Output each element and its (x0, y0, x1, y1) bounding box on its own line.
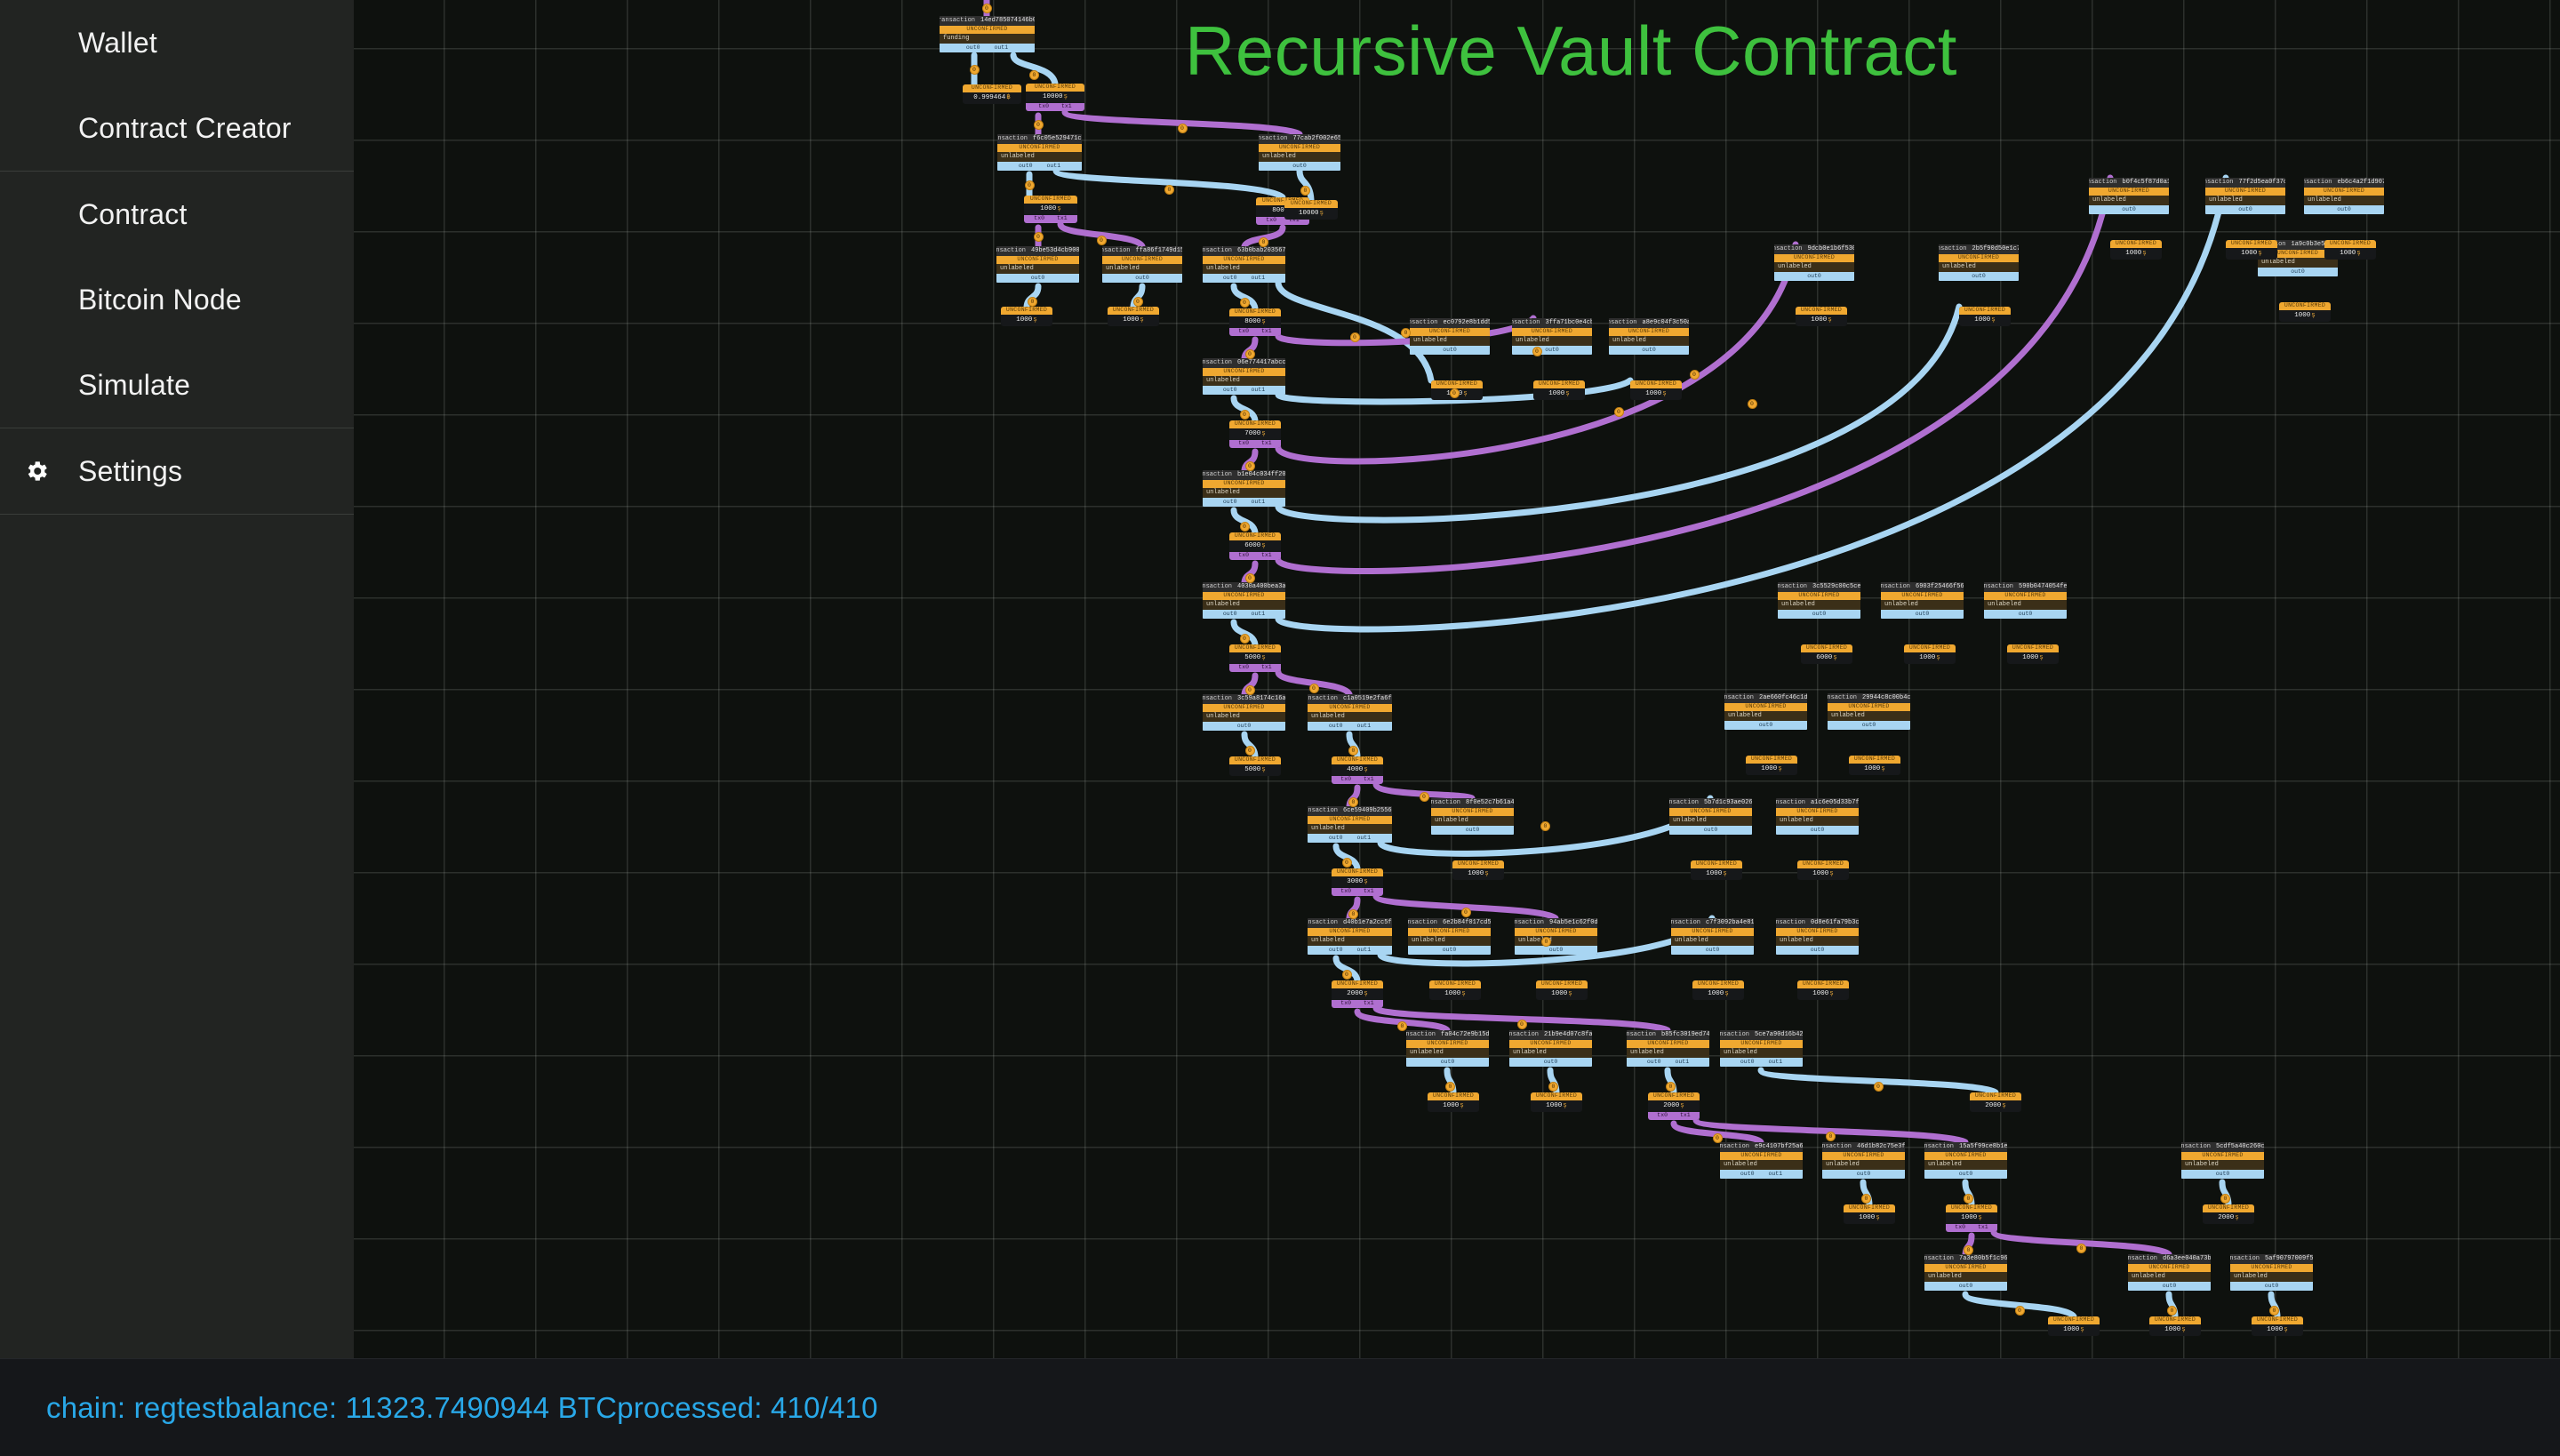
app-body: WalletContract CreatorContractBitcoin No… (0, 0, 2560, 1358)
transaction-label: unlabeled (1881, 600, 1964, 610)
output-port[interactable]: out1 (1357, 836, 1372, 842)
transaction-id: 5af90797009f51b4 (2265, 1256, 2313, 1262)
sidebar: WalletContract CreatorContractBitcoin No… (0, 0, 354, 1358)
currency-symbol: ş (1261, 431, 1266, 438)
spend-port[interactable]: tx0 (1340, 1001, 1351, 1007)
utxo-node[interactable]: UNCONFIRMED1000ş (1001, 307, 1052, 326)
output-port[interactable]: out1 (1252, 612, 1266, 618)
edge-index-badge: 0 (1245, 685, 1255, 695)
transaction-header: Transaction14ed785074146b04 (940, 16, 1035, 26)
transaction-node[interactable]: Transaction3c5529c00c5ce1d0UNCONFIRMEDun… (1778, 582, 1860, 619)
transaction-node[interactable]: Transactione9c4107bf25a6033UNCONFIRMEDun… (1720, 1142, 1803, 1179)
transaction-id: 77f2d5ea0f37c9bb (2239, 180, 2286, 186)
transaction-outputs[interactable]: out0out1 (1203, 498, 1285, 507)
utxo-node[interactable]: UNCONFIRMED1000ş (1429, 980, 1481, 1000)
transaction-outputs[interactable]: out0out1 (1627, 1058, 1709, 1067)
spend-port[interactable]: tx1 (1364, 777, 1374, 783)
status-badge: UNCONFIRMED (1431, 380, 1483, 388)
output-port[interactable]: out0 (1740, 1060, 1755, 1066)
utxo-node[interactable]: UNCONFIRMED1000ş (1533, 380, 1585, 400)
output-port[interactable]: out0 (966, 45, 980, 52)
status-bar: chain: regtestbalance: 11323.7490944 BTC… (0, 1358, 2560, 1456)
transaction-header: Transaction8f0e52c7b61a4d27 (1431, 798, 1514, 808)
spend-port[interactable]: tx0 (1266, 218, 1276, 224)
currency-symbol: ş (1881, 766, 1885, 773)
transaction-node[interactable]: Transaction21b9e4d07c8fa651UNCONFIRMEDun… (1509, 1030, 1592, 1067)
transaction-node[interactable]: Transactionb85fc3019ed742aaUNCONFIRMEDun… (1627, 1030, 1709, 1067)
currency-symbol: ş (1261, 543, 1266, 550)
transaction-header: Transactionb85fc3019ed742aa (1627, 1030, 1709, 1040)
sidebar-item-settings[interactable]: Settings (0, 428, 354, 514)
spend-port[interactable]: tx1 (1061, 104, 1072, 110)
transaction-node[interactable]: Transaction46d1b82c75e3f090UNCONFIRMEDun… (1822, 1142, 1905, 1179)
output-port[interactable]: out0 (1549, 948, 1564, 954)
transaction-node[interactable]: Transaction9dcb0e1b6f5307f2UNCONFIRMEDun… (1774, 244, 1854, 281)
transaction-outputs[interactable]: out0 (2258, 268, 2338, 276)
output-port[interactable]: out0 (1329, 948, 1343, 954)
transaction-label: unlabeled (1308, 712, 1392, 722)
spend-port[interactable]: tx1 (1261, 441, 1272, 447)
utxo-spend-ports[interactable]: tx0tx1 (1332, 1000, 1383, 1008)
transaction-outputs[interactable]: out0 (1776, 826, 1859, 835)
transaction-label: unlabeled (1203, 488, 1285, 498)
transaction-node[interactable]: Transactiond40b1e7a2cc5f309UNCONFIRMEDun… (1308, 918, 1392, 955)
output-port[interactable]: out0 (1223, 388, 1237, 394)
output-port[interactable]: out0 (2019, 612, 2033, 618)
transaction-outputs[interactable]: out0 (2205, 205, 2285, 214)
transaction-outputs[interactable]: out0out1 (1203, 386, 1285, 395)
transaction-word: Transaction (1822, 1144, 1852, 1150)
utxo-node[interactable]: UNCONFIRMED1000ş (1691, 860, 1742, 880)
output-port[interactable]: out0 (1647, 1060, 1661, 1066)
transaction-id: c7f3092ba4e815d6 (1706, 920, 1754, 926)
transaction-node[interactable]: Transactionb0f4c5f87d0a1e33UNCONFIRMEDun… (2089, 178, 2169, 214)
transaction-outputs[interactable]: out0 (996, 274, 1079, 283)
edge-index-badge: 0 (2076, 1244, 2086, 1253)
utxo-node[interactable]: UNCONFIRMED4000ştx0tx1 (1332, 756, 1383, 784)
transaction-outputs[interactable]: out0 (1671, 946, 1754, 955)
transaction-outputs[interactable]: out0 (1724, 721, 1807, 730)
transaction-node[interactable]: Transaction2ae660fc46c1da10UNCONFIRMEDun… (1724, 693, 1807, 730)
utxo-node[interactable]: UNCONFIRMED10000ş (1284, 200, 1338, 220)
transaction-outputs[interactable]: out0out1 (1308, 722, 1392, 731)
status-badge: UNCONFIRMED (1431, 808, 1514, 816)
transaction-node[interactable]: Transaction5ce7a90d16b428fcUNCONFIRMEDun… (1720, 1030, 1803, 1067)
transaction-outputs[interactable]: out0 (1259, 162, 1340, 171)
output-port[interactable]: out0 (1704, 828, 1718, 834)
utxo-node[interactable]: UNCONFIRMED5000ştx0tx1 (1229, 644, 1281, 672)
utxo-node[interactable]: UNCONFIRMED1000ş (1428, 1092, 1479, 1112)
transaction-outputs[interactable]: out0 (1774, 272, 1854, 281)
transaction-outputs[interactable]: out0 (2128, 1282, 2211, 1291)
utxo-node[interactable]: UNCONFIRMED1000ş (1849, 756, 1900, 775)
transaction-outputs[interactable]: out0 (1509, 1058, 1592, 1067)
transaction-node[interactable]: Transactionb1e04c034ff20207UNCONFIRMEDun… (1203, 470, 1285, 507)
transaction-outputs[interactable]: out0out1 (1203, 610, 1285, 619)
output-port[interactable]: out0 (1759, 723, 1773, 729)
utxo-node[interactable]: UNCONFIRMED1000ş (2110, 240, 2162, 260)
utxo-node[interactable]: UNCONFIRMED6000ş (1801, 644, 1852, 664)
edge-index-badge: 0 (1025, 180, 1035, 190)
transaction-node[interactable]: Transactiond6a3ee040a73b50dUNCONFIRMEDun… (2128, 1254, 2211, 1291)
transaction-label: unlabeled (1512, 336, 1592, 346)
transaction-node[interactable]: Transactionf6c05e529471c029UNCONFIRMEDun… (997, 134, 1082, 171)
utxo-node[interactable]: UNCONFIRMED1000ş (2252, 1316, 2303, 1336)
transaction-outputs[interactable]: out0 (1778, 610, 1860, 619)
transaction-node[interactable]: Transaction4030a400bea3a0eaUNCONFIRMEDun… (1203, 582, 1285, 619)
utxo-spend-ports[interactable]: tx0tx1 (1332, 776, 1383, 784)
output-port[interactable]: out0 (2163, 1284, 2177, 1290)
transaction-node[interactable]: Transactionc1a0519e2fa6f66cUNCONFIRMEDun… (1308, 694, 1392, 731)
utxo-node[interactable]: UNCONFIRMED1000ş (1692, 980, 1744, 1000)
output-port[interactable]: out0 (1807, 274, 1821, 280)
spend-port[interactable]: tx1 (1680, 1113, 1691, 1119)
transaction-node[interactable]: Transaction0d8e61fa79b3c204UNCONFIRMEDun… (1776, 918, 1859, 955)
status-badge: UNCONFIRMED (2252, 1316, 2303, 1324)
output-port[interactable]: out1 (1047, 164, 1061, 170)
utxo-spend-ports[interactable]: tx0tx1 (1026, 103, 1084, 111)
spend-port[interactable]: tx1 (1261, 665, 1272, 671)
transaction-id: 6e2b84f017cd5390 (1443, 920, 1491, 926)
transaction-outputs[interactable]: out0out1 (1720, 1058, 1803, 1067)
output-port[interactable]: out0 (1706, 948, 1720, 954)
transaction-outputs[interactable]: out0out1 (1308, 834, 1392, 843)
utxo-spend-ports[interactable]: tx0tx1 (1332, 888, 1383, 896)
output-port[interactable]: out0 (2337, 207, 2351, 213)
transaction-outputs[interactable]: out0 (1669, 826, 1752, 835)
transaction-outputs[interactable]: out0 (1406, 1058, 1489, 1067)
utxo-amount-value: 2000 (1663, 1103, 1679, 1110)
output-port[interactable]: out0 (1642, 348, 1656, 354)
transaction-node[interactable]: Transactionffa86f1749d159aaUNCONFIRMEDun… (1102, 246, 1182, 283)
transaction-node[interactable]: Transactiona1c6e05d33b7f812UNCONFIRMEDun… (1776, 798, 1859, 835)
spend-port[interactable]: tx0 (1238, 553, 1249, 559)
utxo-node[interactable]: UNCONFIRMED5000ş (1229, 756, 1281, 776)
transaction-node[interactable]: Transaction7a3e80b5f1c96d24UNCONFIRMEDun… (1924, 1254, 2007, 1291)
utxo-amount-value: 1000 (2294, 313, 2310, 320)
transaction-outputs[interactable]: out0 (1203, 722, 1285, 731)
output-port[interactable]: out0 (1329, 836, 1343, 842)
transaction-label: unlabeled (1509, 1048, 1592, 1058)
output-port[interactable]: out0 (2216, 1172, 2230, 1178)
transaction-word: Transaction (2128, 1256, 2157, 1262)
transaction-outputs[interactable]: out0 (1984, 610, 2067, 619)
transaction-word: Transaction (1776, 800, 1805, 806)
utxo-amount-value: 1000 (1974, 317, 1990, 324)
edge-index-badge: 0 (1420, 792, 1429, 802)
output-port[interactable]: out1 (1357, 724, 1372, 730)
transaction-outputs[interactable]: out0 (1828, 721, 1910, 730)
transaction-node[interactable]: Transaction5cdf5a40c260c423UNCONFIRMEDun… (2181, 1142, 2264, 1179)
status-badge: UNCONFIRMED (1881, 592, 1964, 600)
transaction-header: Transaction0d8e61fa79b3c204 (1776, 918, 1859, 928)
utxo-node[interactable]: UNCONFIRMED1000ş (1959, 307, 2011, 326)
utxo-amount-value: 1000 (1645, 391, 1661, 398)
currency-symbol: ş (1261, 767, 1266, 774)
output-port[interactable]: out0 (1857, 1172, 1871, 1178)
transaction-header: Transactionc7f3092ba4e815d6 (1671, 918, 1754, 928)
utxo-node[interactable]: UNCONFIRMED1000ştx0tx1 (1946, 1204, 1997, 1232)
spend-port[interactable]: tx0 (1340, 889, 1351, 895)
utxo-node[interactable]: UNCONFIRMED1000ş (1797, 860, 1849, 880)
sidebar-item-wallet[interactable]: Wallet (0, 0, 354, 85)
currency-symbol: ş (2039, 655, 2044, 662)
transaction-label: unlabeled (2089, 196, 2169, 205)
spend-port[interactable]: tx0 (1238, 441, 1249, 447)
transaction-outputs[interactable]: out0out1 (1720, 1170, 1803, 1179)
utxo-amount: 1000ş (2007, 652, 2059, 664)
transaction-outputs[interactable]: out0 (1776, 946, 1859, 955)
utxo-node[interactable]: UNCONFIRMED2000ş (2203, 1204, 2254, 1224)
output-port[interactable]: out0 (1862, 723, 1876, 729)
transaction-outputs[interactable]: out0out1 (940, 44, 1035, 52)
spend-port[interactable]: tx0 (1238, 665, 1249, 671)
spend-port[interactable]: tx1 (1057, 216, 1068, 222)
utxo-node[interactable]: UNCONFIRMED7000ştx0tx1 (1229, 420, 1281, 448)
sidebar-item-label: Simulate (78, 369, 190, 402)
transaction-node[interactable]: Transaction5af90797009f51b4UNCONFIRMEDun… (2230, 1254, 2313, 1291)
utxo-node[interactable]: UNCONFIRMED2000ştx0tx1 (1332, 980, 1383, 1008)
transaction-node[interactable]: Transaction29944c8c00b4c0b7UNCONFIRMEDun… (1828, 693, 1910, 730)
output-port[interactable]: out1 (1252, 276, 1266, 282)
transaction-node[interactable]: Transaction8f0e52c7b61a4d27UNCONFIRMEDun… (1431, 798, 1514, 835)
utxo-node[interactable]: UNCONFIRMED2000ş (1970, 1092, 2021, 1112)
transaction-outputs[interactable]: out0 (1924, 1282, 2007, 1291)
transaction-id: 77cab2f002e651cc (1293, 136, 1341, 142)
transaction-node[interactable]: Transaction5b7d1c93ae0268f4UNCONFIRMEDun… (1669, 798, 1752, 835)
transaction-header: Transactione9c4107bf25a6033 (1720, 1142, 1803, 1152)
transaction-word: Transaction (1406, 1032, 1436, 1038)
output-port[interactable]: out1 (1769, 1060, 1783, 1066)
utxo-node[interactable]: UNCONFIRMED10000ştx0tx1 (1026, 84, 1084, 111)
utxo-node[interactable]: UNCONFIRMED1000ş (2149, 1316, 2201, 1336)
transaction-node[interactable]: Transactionfa04c72e9b15d338UNCONFIRMEDun… (1406, 1030, 1489, 1067)
transaction-outputs[interactable]: out0 (1822, 1170, 1905, 1179)
edge-index-badge: 0 (1461, 908, 1471, 917)
output-port[interactable]: out0 (1811, 948, 1825, 954)
graph-canvas[interactable]: Recursive Vault Contract Transaction14ed… (354, 0, 2560, 1358)
status-badge: UNCONFIRMED (2226, 240, 2277, 248)
transaction-node[interactable]: Transactionc7f3092ba4e815d6UNCONFIRMEDun… (1671, 918, 1754, 955)
output-port[interactable]: out0 (1019, 164, 1033, 170)
utxo-node[interactable]: UNCONFIRMED0.999464฿ (963, 84, 1021, 104)
transaction-outputs[interactable]: out0 (1515, 946, 1597, 955)
output-port[interactable]: out0 (1223, 500, 1237, 506)
transaction-outputs[interactable]: out0 (2181, 1170, 2264, 1179)
output-port[interactable]: out0 (2291, 269, 2305, 276)
transaction-node[interactable]: Transaction49be53d4cb90066fUNCONFIRMEDun… (996, 246, 1079, 283)
utxo-node[interactable]: UNCONFIRMED1000ş (1531, 1092, 1582, 1112)
output-port[interactable]: out0 (1811, 828, 1825, 834)
transaction-node[interactable]: Transaction6903f25466f56e1cUNCONFIRMEDun… (1881, 582, 1964, 619)
output-port[interactable]: out1 (1769, 1172, 1783, 1178)
spend-port[interactable]: tx1 (1364, 889, 1374, 895)
utxo-node[interactable]: UNCONFIRMED1000ştx0tx1 (1024, 196, 1077, 223)
transaction-outputs[interactable]: out0 (1512, 346, 1592, 355)
utxo-node[interactable]: UNCONFIRMED1000ş (1452, 860, 1504, 880)
utxo-node[interactable]: UNCONFIRMED1000ş (1108, 307, 1159, 326)
utxo-node[interactable]: UNCONFIRMED8000ştx0tx1 (1229, 308, 1281, 336)
utxo-node[interactable]: UNCONFIRMED1000ş (1536, 980, 1588, 1000)
output-port[interactable]: out0 (1959, 1284, 1973, 1290)
sidebar-item-contract-creator[interactable]: Contract Creator (0, 85, 354, 171)
utxo-node[interactable]: UNCONFIRMED1000ş (1746, 756, 1797, 775)
transaction-label: unlabeled (1408, 936, 1491, 946)
transaction-node[interactable]: Transaction3ffa71bc0e4cb2a9UNCONFIRMEDun… (1512, 318, 1592, 355)
spend-port[interactable]: tx0 (1238, 329, 1249, 335)
utxo-node[interactable]: UNCONFIRMED1000ş (1630, 380, 1682, 400)
output-port[interactable]: out0 (1329, 724, 1343, 730)
transaction-node[interactable]: Transaction14ed785074146b04UNCONFIRMEDfu… (940, 16, 1035, 52)
output-port[interactable]: out0 (1916, 612, 1930, 618)
transaction-node[interactable]: Transaction590b0474054fe22bUNCONFIRMEDun… (1984, 582, 2067, 619)
transaction-outputs[interactable]: out0 (1102, 274, 1182, 283)
edge-index-badge: 0 (1666, 1082, 1676, 1092)
output-port[interactable]: out0 (1441, 1060, 1455, 1066)
output-port[interactable]: out1 (1252, 500, 1266, 506)
utxo-node[interactable]: UNCONFIRMED1000ş (2324, 240, 2376, 260)
transaction-word: Transaction (997, 136, 1028, 142)
transaction-outputs[interactable]: out0out1 (997, 162, 1082, 171)
transaction-word: Transaction (1308, 696, 1338, 702)
transaction-outputs[interactable]: out0 (2089, 205, 2169, 214)
output-port[interactable]: out1 (1252, 388, 1266, 394)
utxo-spend-ports[interactable]: tx0tx1 (1229, 664, 1281, 672)
spend-port[interactable]: tx1 (1261, 553, 1272, 559)
transaction-node[interactable]: Transaction06e774417abcc75bUNCONFIRMEDun… (1203, 358, 1285, 395)
currency-symbol: ş (1829, 871, 1834, 878)
output-port[interactable]: out0 (1959, 1172, 1973, 1178)
transaction-node[interactable]: Transactiona8e9c04f3c50a11dUNCONFIRMEDun… (1609, 318, 1689, 355)
transaction-node[interactable]: Transaction3c59a8174c16ad71UNCONFIRMEDun… (1203, 694, 1285, 731)
transaction-node[interactable]: Transactionec0792e8b1dd5a02UNCONFIRMEDun… (1410, 318, 1490, 355)
status-badge: UNCONFIRMED (940, 26, 1035, 34)
status-badge: UNCONFIRMED (2203, 1204, 2254, 1212)
transaction-node[interactable]: Transaction94ab5e1c62f0d7a8UNCONFIRMEDun… (1515, 918, 1597, 955)
utxo-node[interactable]: UNCONFIRMED1000ş (1796, 307, 1847, 326)
transaction-outputs[interactable]: out0 (1408, 946, 1491, 955)
sidebar-item-simulate[interactable]: Simulate (0, 342, 354, 428)
output-port[interactable]: out0 (1812, 612, 1827, 618)
transaction-outputs[interactable]: out0 (1609, 346, 1689, 355)
spend-port[interactable]: tx0 (1657, 1113, 1668, 1119)
utxo-spend-ports[interactable]: tx0tx1 (1229, 440, 1281, 448)
edge-index-badge: 0 (2269, 1306, 2279, 1316)
sidebar-item-contract[interactable]: Contract (0, 172, 354, 257)
status-badge: UNCONFIRMED (1332, 980, 1383, 988)
transaction-outputs[interactable]: out0out1 (1308, 946, 1392, 955)
transaction-node[interactable]: Transaction63b0bab2035670d7UNCONFIRMEDun… (1203, 246, 1285, 283)
status-badge: UNCONFIRMED (1308, 816, 1392, 824)
transaction-node[interactable]: Transaction15a5f99ce8b1ef12UNCONFIRMEDun… (1924, 1142, 2007, 1179)
transaction-outputs[interactable]: out0 (2304, 205, 2384, 214)
output-port[interactable]: out0 (1740, 1172, 1755, 1178)
spend-port[interactable]: tx0 (1340, 777, 1351, 783)
utxo-amount: 1000ş (1429, 988, 1481, 1000)
transaction-outputs[interactable]: out0 (2230, 1282, 2313, 1291)
spend-port[interactable]: tx1 (1261, 329, 1272, 335)
utxo-spend-ports[interactable]: tx0tx1 (1648, 1112, 1700, 1120)
transaction-outputs[interactable]: out0 (1431, 826, 1514, 835)
output-port[interactable]: out0 (1972, 274, 1986, 280)
output-port[interactable]: out0 (1223, 612, 1237, 618)
utxo-node[interactable]: UNCONFIRMED3000ştx0tx1 (1332, 868, 1383, 896)
spend-port[interactable]: tx0 (1038, 104, 1049, 110)
edge-index-badge: 0 (1540, 821, 1550, 831)
utxo-node[interactable]: UNCONFIRMED2000ştx0tx1 (1648, 1092, 1700, 1120)
status-badge: UNCONFIRMED (1515, 928, 1597, 936)
transaction-node[interactable]: Transaction77f2d5ea0f37c9bbUNCONFIRMEDun… (2205, 178, 2285, 214)
output-port[interactable]: out1 (1357, 948, 1372, 954)
transaction-outputs[interactable]: out0 (1924, 1170, 2007, 1179)
utxo-spend-ports[interactable]: tx0tx1 (1229, 328, 1281, 336)
output-port[interactable]: out1 (1676, 1060, 1690, 1066)
utxo-node[interactable]: UNCONFIRMED1000ş (2279, 302, 2331, 322)
utxo-node[interactable]: UNCONFIRMED1000ş (1797, 980, 1849, 1000)
transaction-outputs[interactable]: out0 (1410, 346, 1490, 355)
output-port[interactable]: out0 (1223, 276, 1237, 282)
utxo-spend-ports[interactable]: tx0tx1 (1229, 552, 1281, 560)
output-port[interactable]: out0 (1545, 348, 1559, 354)
edge-index-badge: 0 (1713, 1133, 1723, 1143)
output-port[interactable]: out0 (1466, 828, 1480, 834)
spend-port[interactable]: tx0 (1034, 216, 1044, 222)
utxo-node[interactable]: UNCONFIRMED6000ştx0tx1 (1229, 532, 1281, 560)
spend-port[interactable]: tx1 (1364, 1001, 1374, 1007)
utxo-node[interactable]: UNCONFIRMED1000ş (2048, 1316, 2100, 1336)
spend-port[interactable]: tx1 (1978, 1225, 1988, 1231)
transaction-node[interactable]: Transaction6ce59409b2556e32UNCONFIRMEDun… (1308, 806, 1392, 843)
output-port[interactable]: out0 (1031, 276, 1045, 282)
output-port[interactable]: out0 (2265, 1284, 2279, 1290)
sidebar-item-bitcoin-node[interactable]: Bitcoin Node (0, 257, 354, 342)
utxo-node[interactable]: UNCONFIRMED1000ş (1844, 1204, 1895, 1224)
transaction-node[interactable]: Transaction77cab2f002e651ccUNCONFIRMEDun… (1259, 134, 1340, 171)
edge-index-badge: 0 (1690, 370, 1700, 380)
output-port[interactable]: out0 (1292, 164, 1307, 170)
edge-index-badge: 0 (1240, 522, 1250, 532)
transaction-label: unlabeled (1308, 936, 1392, 946)
utxo-node[interactable]: UNCONFIRMED1000ş (1904, 644, 1956, 664)
output-port[interactable]: out0 (2238, 207, 2252, 213)
transaction-outputs[interactable]: out0 (1939, 272, 2019, 281)
output-port[interactable]: out0 (1237, 724, 1252, 730)
output-port[interactable]: out0 (1135, 276, 1149, 282)
utxo-node[interactable]: UNCONFIRMED1000ş (2226, 240, 2277, 260)
utxo-amount-value: 2000 (1347, 991, 1363, 998)
transaction-outputs[interactable]: out0out1 (1203, 274, 1285, 283)
currency-symbol: ş (1461, 991, 1466, 998)
utxo-amount: 1000ş (1536, 988, 1588, 1000)
output-port[interactable]: out1 (995, 45, 1009, 52)
transaction-outputs[interactable]: out0 (1881, 610, 1964, 619)
utxo-spend-ports[interactable]: tx0tx1 (1946, 1224, 1997, 1232)
status-badge: UNCONFIRMED (1844, 1204, 1895, 1212)
utxo-node[interactable]: UNCONFIRMED1000ş (2007, 644, 2059, 664)
spend-port[interactable]: tx0 (1955, 1225, 1965, 1231)
transaction-node[interactable]: Transactioneb6c4a2f1d9077acUNCONFIRMEDun… (2304, 178, 2384, 214)
utxo-amount-value: 1000 (1961, 1215, 1977, 1222)
output-port[interactable]: out0 (2122, 207, 2136, 213)
output-port[interactable]: out0 (1443, 948, 1457, 954)
transaction-node[interactable]: Transaction6e2b84f017cd5390UNCONFIRMEDun… (1408, 918, 1491, 955)
status-badge: UNCONFIRMED (1776, 928, 1859, 936)
utxo-spend-ports[interactable]: tx0tx1 (1024, 215, 1077, 223)
utxo-amount: 10000ş (1284, 208, 1338, 220)
transaction-node[interactable]: Transaction2b5f90d50e1c7ba4UNCONFIRMEDun… (1939, 244, 2019, 281)
output-port[interactable]: out0 (1544, 1060, 1558, 1066)
output-port[interactable]: out0 (1443, 348, 1457, 354)
